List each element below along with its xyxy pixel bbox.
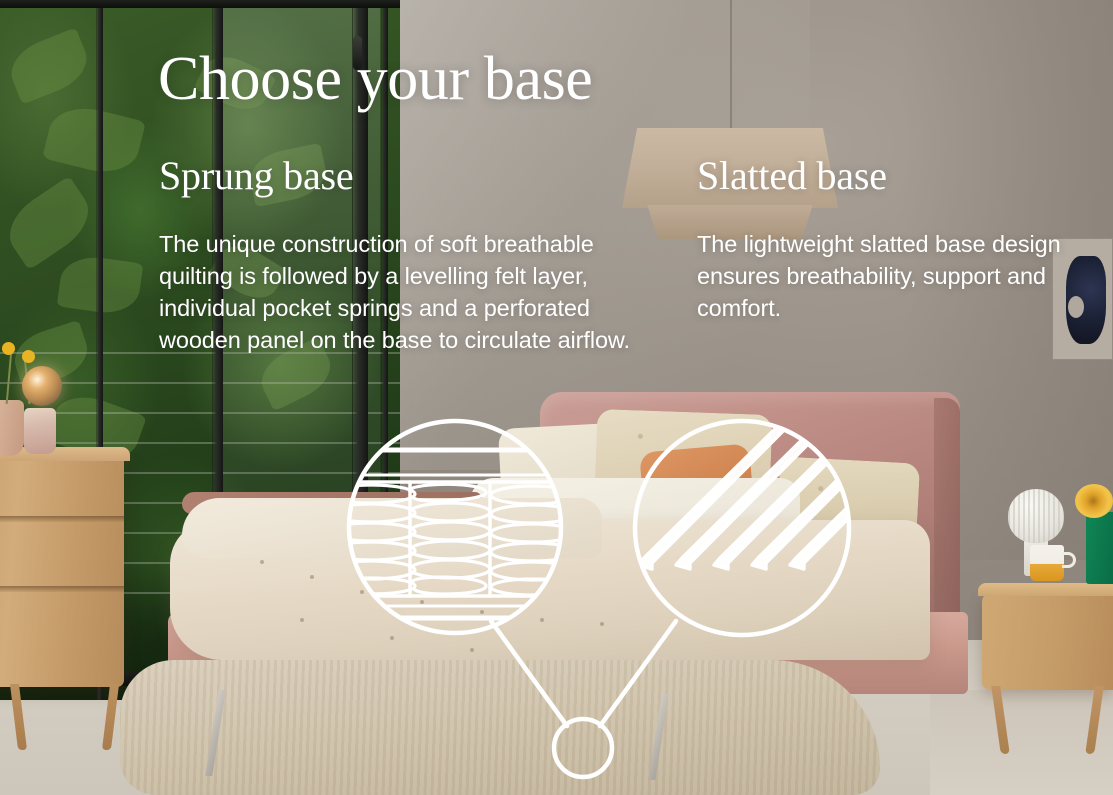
sprung-base-body: The unique construction of soft breathab… [159, 228, 659, 356]
leader-line-right [600, 621, 676, 726]
base-callout-marker [554, 719, 612, 777]
base-diagram-overlay [0, 0, 1113, 795]
callout-leader-lines [491, 621, 676, 726]
slatted-base-cutaway [638, 424, 942, 569]
leader-line-left [491, 621, 567, 726]
sprung-base-circle [349, 421, 561, 633]
slatted-base-circle [635, 421, 849, 635]
slatted-base-title: Slatted base [697, 155, 887, 197]
sprung-base-title: Sprung base [159, 155, 353, 197]
feature-panel: Choose your base Sprung base The unique … [0, 0, 1113, 795]
page-title: Choose your base [158, 48, 592, 111]
slatted-base-body: The lightweight slatted base design ensu… [697, 228, 1077, 324]
